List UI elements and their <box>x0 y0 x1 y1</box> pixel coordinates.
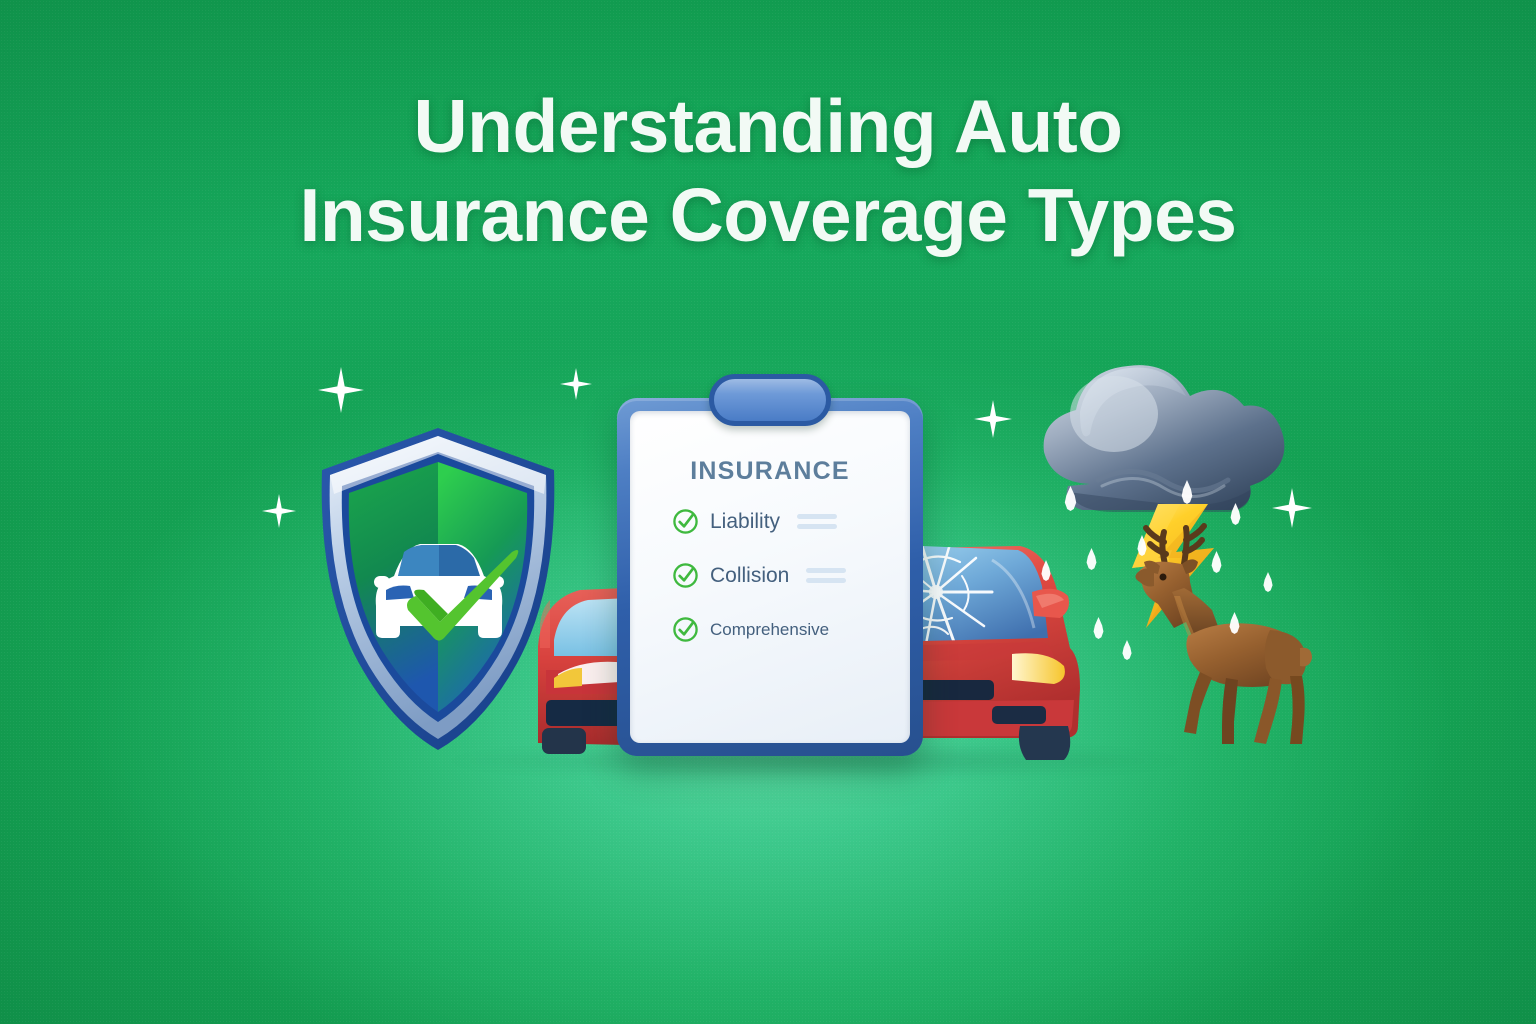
placeholder-lines <box>806 568 846 583</box>
clipboard-heading: INSURANCE <box>630 457 910 486</box>
clipboard-paper: INSURANCE Liability Collision Comprehens… <box>630 411 910 743</box>
deer-icon <box>1130 520 1330 750</box>
clipboard-clip <box>709 374 831 426</box>
title-line-2: Insurance Coverage Types <box>0 171 1536 260</box>
coverage-label: Comprehensive <box>710 620 829 640</box>
coverage-label: Liability <box>710 510 780 534</box>
check-circle-icon <box>672 508 699 535</box>
check-circle-icon <box>672 562 699 589</box>
shield-car-check-icon <box>308 424 568 754</box>
check-circle-icon <box>672 616 699 643</box>
coverage-item[interactable]: Comprehensive <box>672 616 896 643</box>
page-title: Understanding Auto Insurance Coverage Ty… <box>0 82 1536 259</box>
insurance-clipboard[interactable]: INSURANCE Liability Collision Comprehens… <box>617 398 923 756</box>
coverage-item[interactable]: Collision <box>672 562 896 589</box>
coverage-list: Liability Collision Comprehensive <box>630 508 910 643</box>
coverage-item[interactable]: Liability <box>672 508 896 535</box>
title-line-1: Understanding Auto <box>0 82 1536 171</box>
coverage-label: Collision <box>710 564 789 588</box>
hero-banner: Understanding Auto Insurance Coverage Ty… <box>0 0 1536 1024</box>
placeholder-lines <box>797 514 837 529</box>
